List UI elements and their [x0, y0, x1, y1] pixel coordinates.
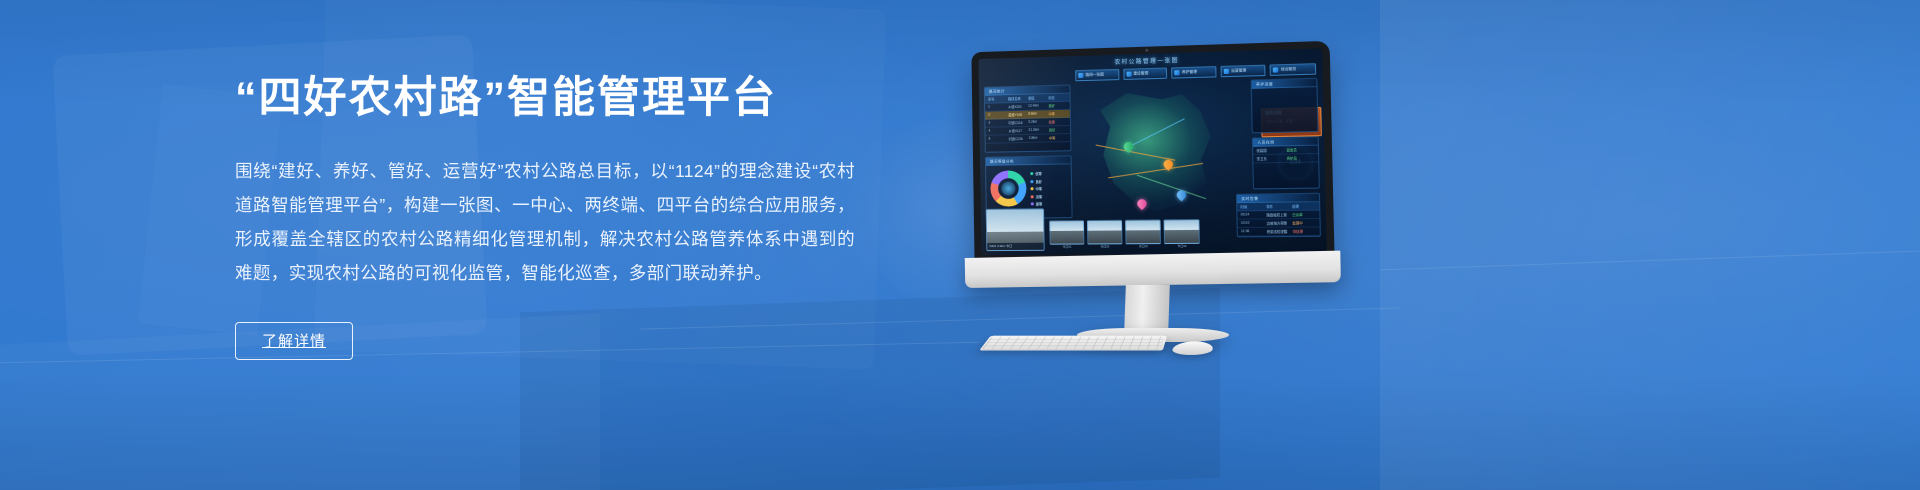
- cell-no: 3: [988, 120, 1006, 125]
- nav-icon: [1174, 70, 1179, 75]
- legend-label: 次等: [1036, 195, 1043, 199]
- alert-action: 处理中: [1292, 220, 1316, 225]
- cell-status: 良好: [1048, 103, 1066, 108]
- cell-status: 中等: [1049, 135, 1067, 140]
- list-item[interactable]: 卡口04: [1164, 219, 1200, 249]
- cell-name: 乡道X117: [1008, 128, 1026, 133]
- hero-banner: “四好农村路”智能管理平台 围绕“建好、养好、管好、运营好”农村公路总目标，以“…: [0, 0, 1920, 490]
- nav-icon: [1126, 72, 1131, 77]
- list-item[interactable]: 卡口02: [1087, 219, 1123, 248]
- column-header: 处理: [1292, 203, 1316, 208]
- staff-role: 巡查员: [1286, 147, 1314, 153]
- list-item[interactable]: 卡口03: [1125, 219, 1161, 248]
- cell-value: 12.4km: [1028, 103, 1046, 108]
- column-header: 路线名称: [1008, 96, 1026, 101]
- column-header: 序号: [988, 96, 1006, 101]
- video-sky: [987, 209, 1044, 232]
- keyboard-keys: [982, 337, 1165, 350]
- camera-thumbnail-list: 卡口01 卡口02 卡口03 卡口04: [1049, 219, 1200, 249]
- cell-no: 1: [988, 104, 1006, 109]
- cell-status: 较差: [1049, 119, 1067, 124]
- learn-more-button[interactable]: 了解详情: [235, 322, 353, 360]
- nav-label: 综合服务: [1281, 67, 1297, 73]
- nav-item[interactable]: 养护管理: [1171, 66, 1216, 79]
- webcam-icon: [1145, 49, 1148, 52]
- video-caption: X201 3.2km 卡口: [987, 243, 1043, 250]
- nav-label: 养护管理: [1182, 70, 1197, 76]
- donut-center: [1001, 181, 1015, 195]
- chart-legend: 优等 良好 中等 次等 差等: [1030, 171, 1042, 206]
- page-title: “四好农村路”智能管理平台: [235, 72, 895, 126]
- nav-icon: [1273, 67, 1278, 72]
- table-row[interactable]: 5 村道C226 3.8km 中等: [986, 134, 1071, 144]
- staff-role: 养护员: [1287, 155, 1315, 161]
- map-region-shape: [1090, 91, 1217, 212]
- nav-item[interactable]: 建设管理: [1123, 67, 1167, 79]
- legend-item: 中等: [1030, 186, 1042, 191]
- thumbnail-label: 卡口04: [1164, 244, 1200, 248]
- alert-event: 桥梁巡检提醒: [1267, 229, 1291, 234]
- cell-name: 乡道X201: [1008, 104, 1026, 109]
- cell-no: 5: [989, 136, 1007, 141]
- panel-maintenance-progress: 养护进度: [1251, 78, 1319, 134]
- legend-item: 次等: [1031, 194, 1043, 199]
- nav-label: 运营管理: [1231, 68, 1246, 74]
- computer-illustration: 农村公路管理一张图 路网一张图 建设管理 养护管理: [955, 52, 1575, 372]
- alert-time: 09:24: [1241, 212, 1265, 217]
- alert-action: 待处理: [1293, 228, 1317, 233]
- banner-description: 围绕“建好、养好、管好、运营好”农村公路总目标，以“1124”的理念建设“农村道…: [235, 154, 855, 290]
- gis-map[interactable]: [1075, 82, 1236, 218]
- monitor-chin: [965, 251, 1341, 288]
- column-header: 状态: [1048, 95, 1066, 101]
- cell-name: 村道C226: [1009, 136, 1027, 141]
- legend-item: 良好: [1030, 178, 1042, 183]
- banner-content: “四好农村路”智能管理平台 围绕“建好、养好、管好、运营好”农村公路总目标，以“…: [235, 72, 895, 360]
- nav-item[interactable]: 综合服务: [1270, 63, 1316, 76]
- staff-name: 张建国: [1256, 147, 1284, 153]
- cell-name: 村道C318: [1008, 120, 1026, 125]
- panel-title: 养护进度: [1252, 79, 1317, 89]
- panel-realtime-alerts: 实时告警 时间 事件 处理 09:24 路面破损上报 已派单 10:02 边坡塌…: [1236, 193, 1321, 238]
- column-header: 里程: [1028, 95, 1046, 100]
- nav-label: 路网一张图: [1085, 72, 1103, 78]
- monitor-stand-neck: [1124, 285, 1170, 333]
- table-row[interactable]: 李卫东 养护员: [1253, 154, 1318, 163]
- nav-item[interactable]: 运营管理: [1220, 65, 1266, 78]
- alert-time: 11:36: [1241, 229, 1265, 234]
- cell-no: 4: [988, 128, 1006, 133]
- cell-value: 3.8km: [1029, 136, 1047, 141]
- cell-value: 8.6km: [1028, 111, 1046, 116]
- alert-event: 边坡塌方预警: [1266, 220, 1290, 225]
- panel-staff-on-duty: 人员在岗 张建国 巡查员 李卫东 养护员: [1252, 136, 1320, 189]
- camera-thumbnail: [1164, 219, 1200, 244]
- staff-name: 李卫东: [1257, 156, 1285, 162]
- camera-thumbnail: [1087, 219, 1122, 244]
- camera-thumbnail: [1125, 219, 1161, 244]
- nav-label: 建设管理: [1133, 71, 1148, 77]
- column-header: 事件: [1266, 204, 1290, 209]
- cell-value: 5.2km: [1028, 119, 1046, 124]
- alert-action: 已派单: [1292, 212, 1316, 217]
- thumbnail-label: 卡口02: [1087, 244, 1122, 248]
- mouse: [1171, 341, 1215, 355]
- nav-icon: [1078, 73, 1083, 78]
- monitor-screen: 农村公路管理一张图 路网一张图 建设管理 养护管理: [978, 48, 1326, 255]
- list-item[interactable]: 卡口01: [1049, 220, 1084, 249]
- camera-thumbnail: [1049, 220, 1084, 245]
- thumbnail-label: 卡口01: [1050, 245, 1085, 249]
- thumbnail-label: 卡口03: [1126, 244, 1161, 248]
- panel-road-statistics: 路况统计 序号 路线名称 里程 状态 1 乡道X201 12.4km 良好: [984, 84, 1072, 152]
- keyboard: [979, 336, 1167, 351]
- legend-item: 差等: [1031, 201, 1043, 206]
- cell-status: 中等: [1048, 111, 1066, 116]
- monitor-bezel: 农村公路管理一张图 路网一张图 建设管理 养护管理: [971, 41, 1334, 264]
- cell-no: 2: [988, 112, 1006, 117]
- alert-event: 路面破损上报: [1266, 212, 1290, 217]
- legend-label: 中等: [1036, 187, 1043, 191]
- legend-label: 良好: [1035, 180, 1042, 184]
- video-monitor-preview[interactable]: X201 3.2km 卡口: [986, 208, 1045, 251]
- panel-title: 路况等级分布: [986, 156, 1071, 166]
- column-header: 时间: [1240, 204, 1264, 209]
- nav-icon: [1224, 69, 1229, 74]
- cell-name: 县道Y105: [1008, 112, 1026, 117]
- cell-value: 21.3km: [1029, 127, 1047, 132]
- cell-status: 良好: [1049, 127, 1067, 132]
- legend-label: 优等: [1035, 172, 1042, 176]
- nav-item[interactable]: 路网一张图: [1075, 69, 1119, 81]
- alert-time: 10:02: [1241, 221, 1265, 226]
- legend-label: 差等: [1036, 202, 1043, 206]
- legend-item: 优等: [1030, 171, 1042, 176]
- table-row[interactable]: 11:36 桥梁巡检提醒 待处理: [1238, 227, 1320, 236]
